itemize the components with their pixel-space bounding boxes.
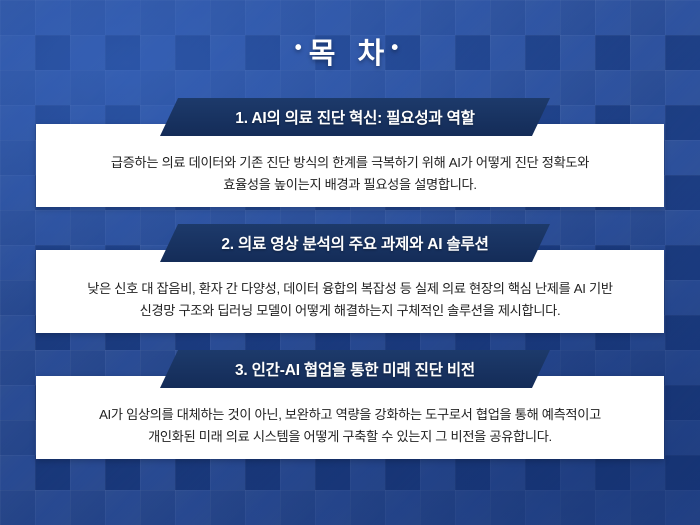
slide-canvas: •목 차• 급증하는 의료 데이터와 기존 진단 방식의 한계를 극복하기 위해… — [0, 0, 700, 525]
title-bullet-left: • — [295, 37, 309, 59]
agenda-card-1: 급증하는 의료 데이터와 기존 진단 방식의 한계를 극복하기 위해 AI가 어… — [36, 124, 664, 207]
agenda-banner-3[interactable]: 3. 인간-AI 협업을 통한 미래 진단 비전 — [160, 350, 550, 388]
slide-title-wrapper: •목 차• — [0, 30, 700, 72]
agenda-body-3: AI가 임상의를 대체하는 것이 아닌, 보완하고 역량을 강화하는 도구로서 … — [99, 388, 601, 447]
slide-title: •목 차• — [295, 30, 405, 72]
agenda-card-2: 낮은 신호 대 잡음비, 환자 간 다양성, 데이터 융합의 복잡성 등 실제 … — [36, 250, 664, 333]
agenda-body-2: 낮은 신호 대 잡음비, 환자 간 다양성, 데이터 융합의 복잡성 등 실제 … — [87, 262, 612, 321]
agenda-banner-1[interactable]: 1. AI의 의료 진단 혁신: 필요성과 역할 — [160, 98, 550, 136]
agenda-heading-1: 1. AI의 의료 진단 혁신: 필요성과 역할 — [235, 106, 474, 128]
agenda-heading-2: 2. 의료 영상 분석의 주요 과제와 AI 솔루션 — [221, 232, 488, 254]
agenda-card-3: AI가 임상의를 대체하는 것이 아닌, 보완하고 역량을 강화하는 도구로서 … — [36, 376, 664, 459]
agenda-heading-3: 3. 인간-AI 협업을 통한 미래 진단 비전 — [235, 358, 475, 380]
agenda-body-1: 급증하는 의료 데이터와 기존 진단 방식의 한계를 극복하기 위해 AI가 어… — [111, 136, 589, 195]
title-text: 목 차 — [309, 38, 391, 70]
title-bullet-right: • — [391, 37, 405, 59]
agenda-banner-2[interactable]: 2. 의료 영상 분석의 주요 과제와 AI 솔루션 — [160, 224, 550, 262]
